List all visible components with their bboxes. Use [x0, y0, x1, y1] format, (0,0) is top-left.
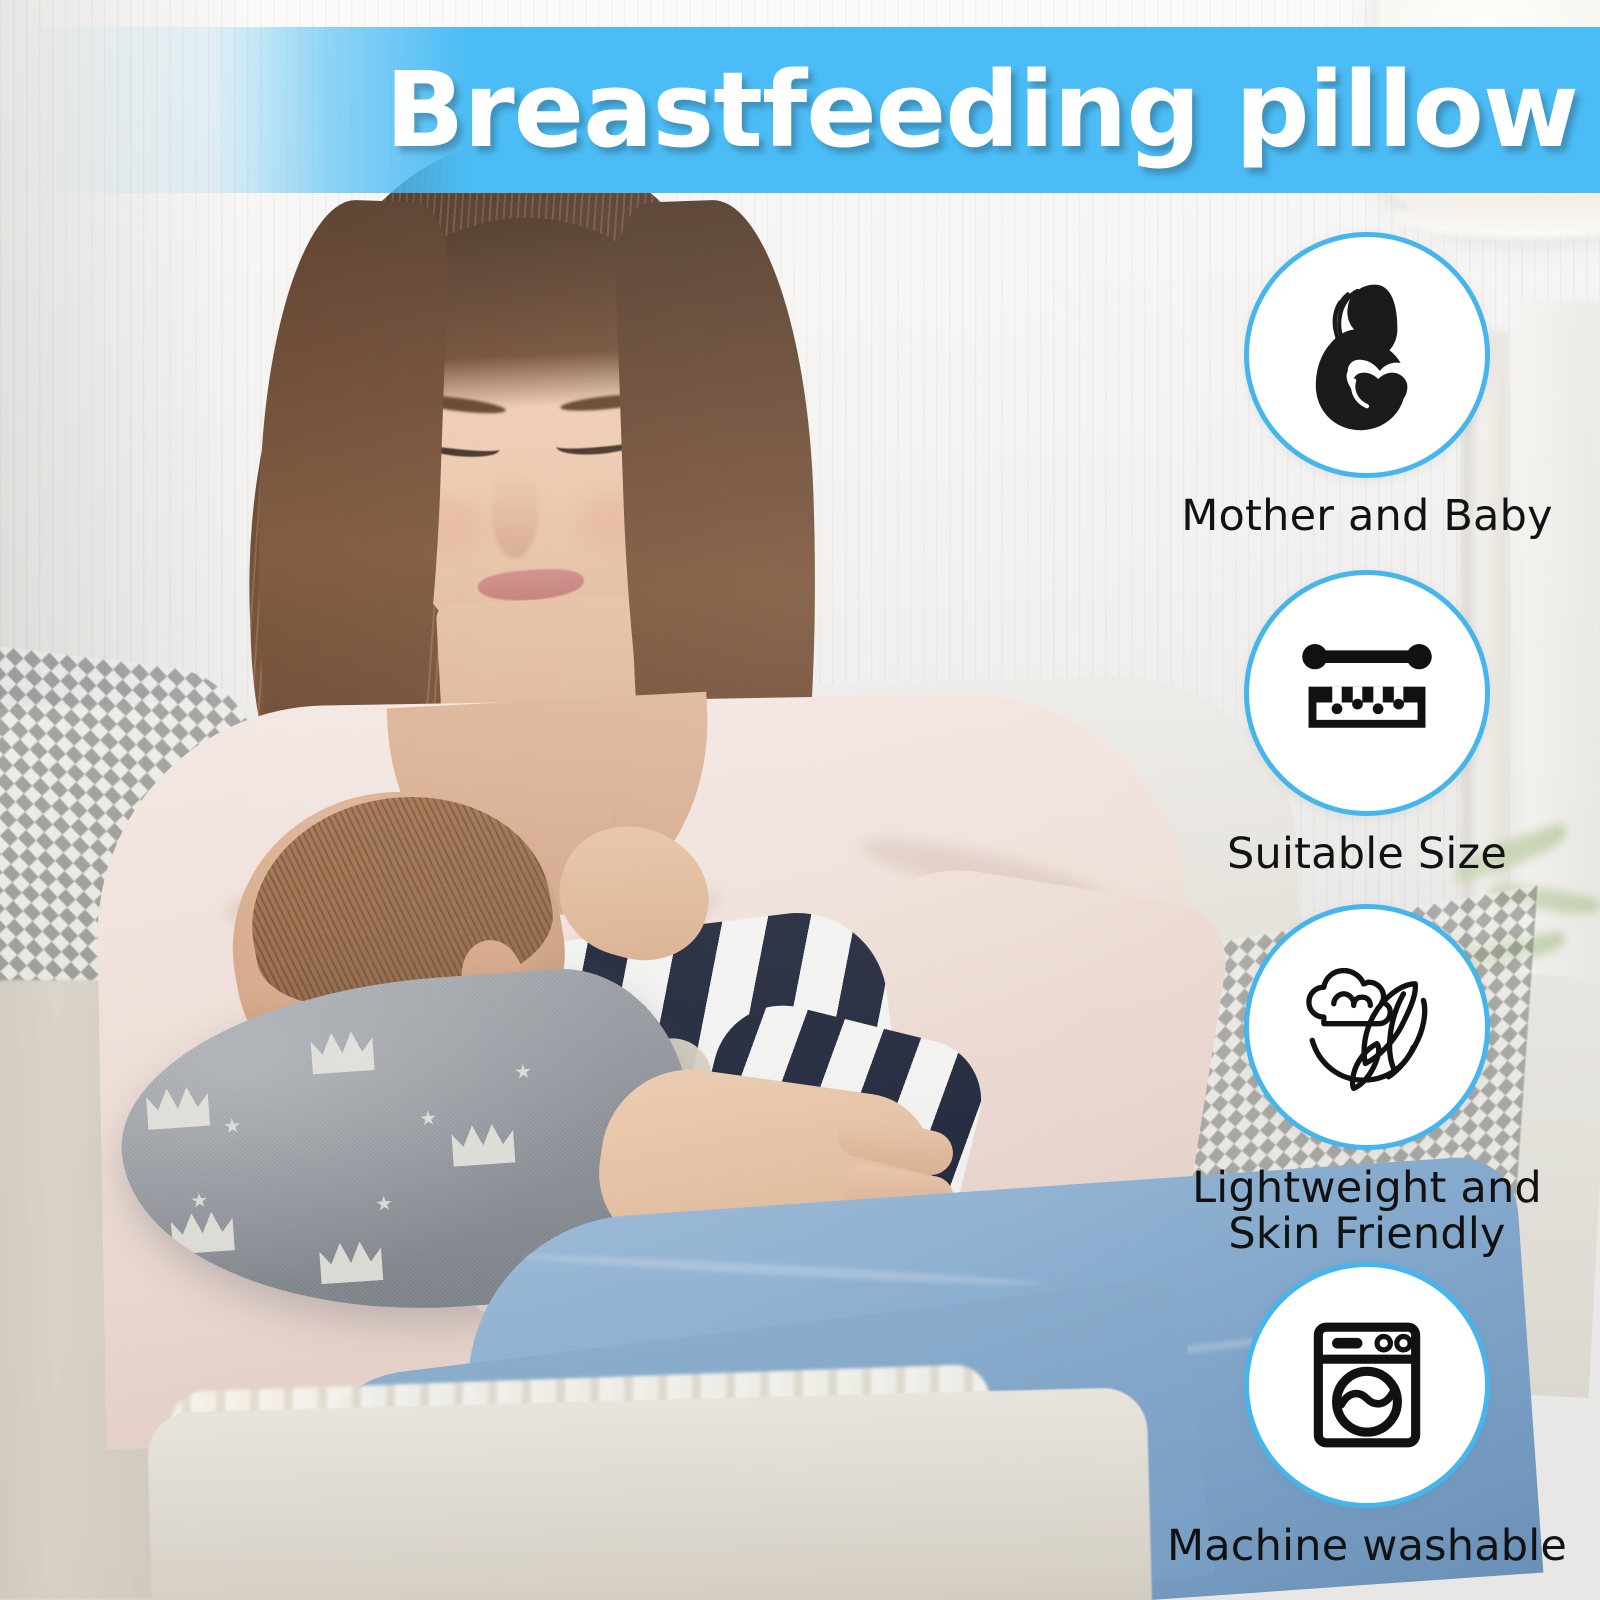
- feature-label: Lightweight and Skin Friendly: [1192, 1166, 1542, 1257]
- washing-machine-icon: [1291, 1309, 1443, 1461]
- feature-lightweight-skin-friendly[interactable]: Lightweight and Skin Friendly: [1148, 904, 1586, 1257]
- feature-icon-circle: [1244, 1262, 1490, 1508]
- product-marketing-image: Breastfeeding pillow Mother: [0, 0, 1600, 1600]
- feature-suitable-size[interactable]: Suitable Size: [1148, 570, 1586, 878]
- ruler-measure-icon: [1288, 614, 1446, 772]
- sofa-seat: [147, 1387, 1153, 1600]
- feature-label: Suitable Size: [1227, 832, 1507, 878]
- feature-icon-circle: [1244, 570, 1490, 816]
- feature-icon-circle: [1244, 904, 1490, 1150]
- feature-label: Mother and Baby: [1181, 494, 1552, 540]
- mother-and-baby-icon: [1287, 275, 1447, 435]
- feature-mother-and-baby[interactable]: Mother and Baby: [1148, 232, 1586, 540]
- feature-icon-circle: [1244, 232, 1490, 478]
- feature-list: Mother and Baby: [1148, 232, 1586, 1592]
- page-title: Breastfeeding pillow: [385, 58, 1600, 162]
- feature-label: Machine washable: [1167, 1524, 1567, 1570]
- feature-machine-washable[interactable]: Machine washable: [1148, 1262, 1586, 1570]
- mother-nose: [492, 470, 538, 558]
- title-banner: Breastfeeding pillow: [0, 27, 1600, 193]
- cloud-feather-icon: [1284, 944, 1450, 1110]
